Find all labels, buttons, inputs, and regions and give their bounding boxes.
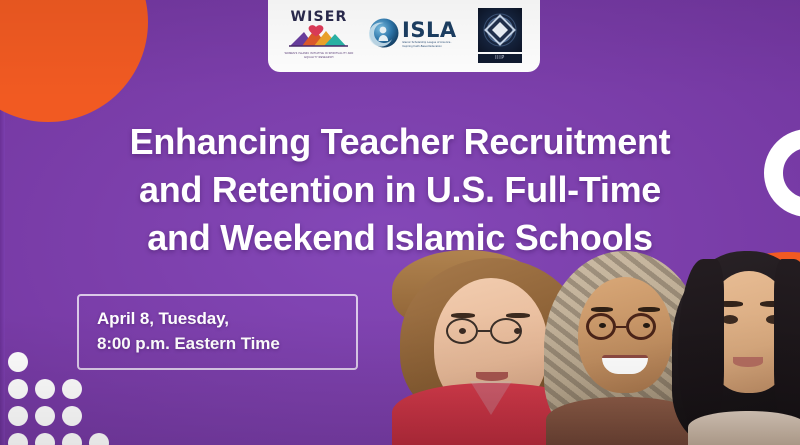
page-title: Enhancing Teacher Recruitment and Retent…: [0, 118, 800, 262]
logo-bar: WISER WOMEN'S ISLAMIC INITIATIVE IN SPIR…: [268, 0, 540, 72]
speaker-3-torso: [688, 411, 800, 445]
wiser-mountain-icon: [288, 25, 350, 52]
isla-wordmark: ISLA: [402, 21, 457, 41]
iiip-caption: IIIP: [478, 54, 522, 63]
isla-tagline: Islamic Scholarship League of America · …: [402, 41, 461, 49]
speaker-3-hair-right: [774, 259, 800, 434]
wiser-logo: WISER WOMEN'S ISLAMIC INITIATIVE IN SPIR…: [282, 10, 356, 59]
speaker-3-hair-left: [678, 259, 724, 434]
speaker-photo-3: [672, 245, 800, 445]
headline-line-2: and Retention in U.S. Full-Time: [34, 166, 766, 214]
wiser-tagline: WOMEN'S ISLAMIC INITIATIVE IN SPIRITUALI…: [283, 52, 355, 59]
speaker-photo-group: [0, 245, 800, 445]
iiip-diamond-icon: [478, 8, 522, 52]
isla-emblem-icon: [369, 18, 399, 53]
webinar-promo-poster: WISER WOMEN'S ISLAMIC INITIATIVE IN SPIR…: [0, 0, 800, 445]
iiip-logo: IIIP: [474, 8, 526, 63]
speaker-1-glasses-icon: [446, 318, 522, 344]
isla-logo: ISLA Islamic Scholarship League of Ameri…: [369, 18, 461, 53]
headline-line-1: Enhancing Teacher Recruitment: [34, 118, 766, 166]
wiser-wordmark: WISER: [290, 10, 347, 24]
